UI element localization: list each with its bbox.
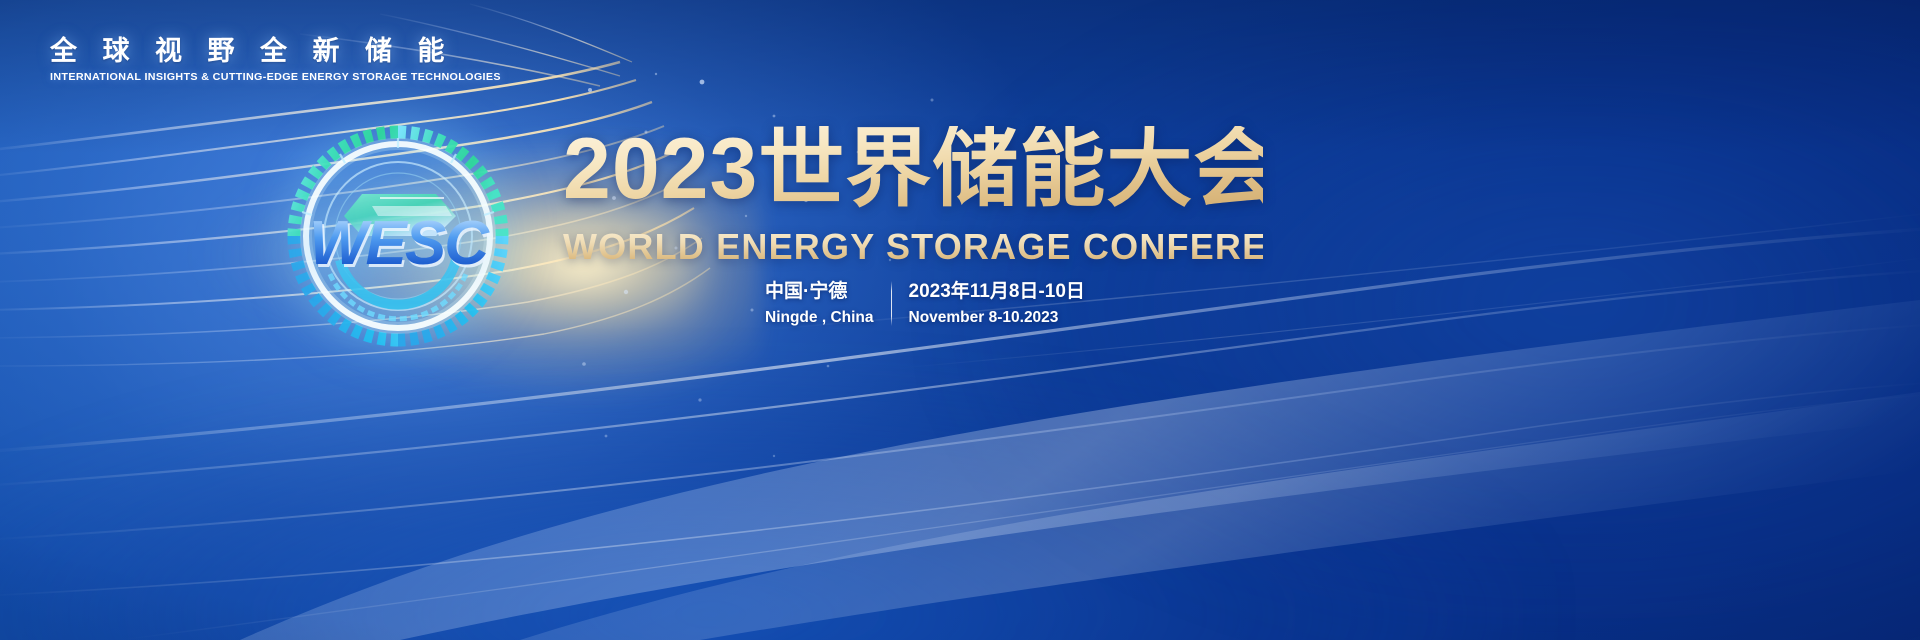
conference-banner: 全 球 视 野 全 新 储 能 INTERNATIONAL INSIGHTS &… — [0, 0, 1920, 640]
vignette-overlay — [0, 0, 1920, 640]
